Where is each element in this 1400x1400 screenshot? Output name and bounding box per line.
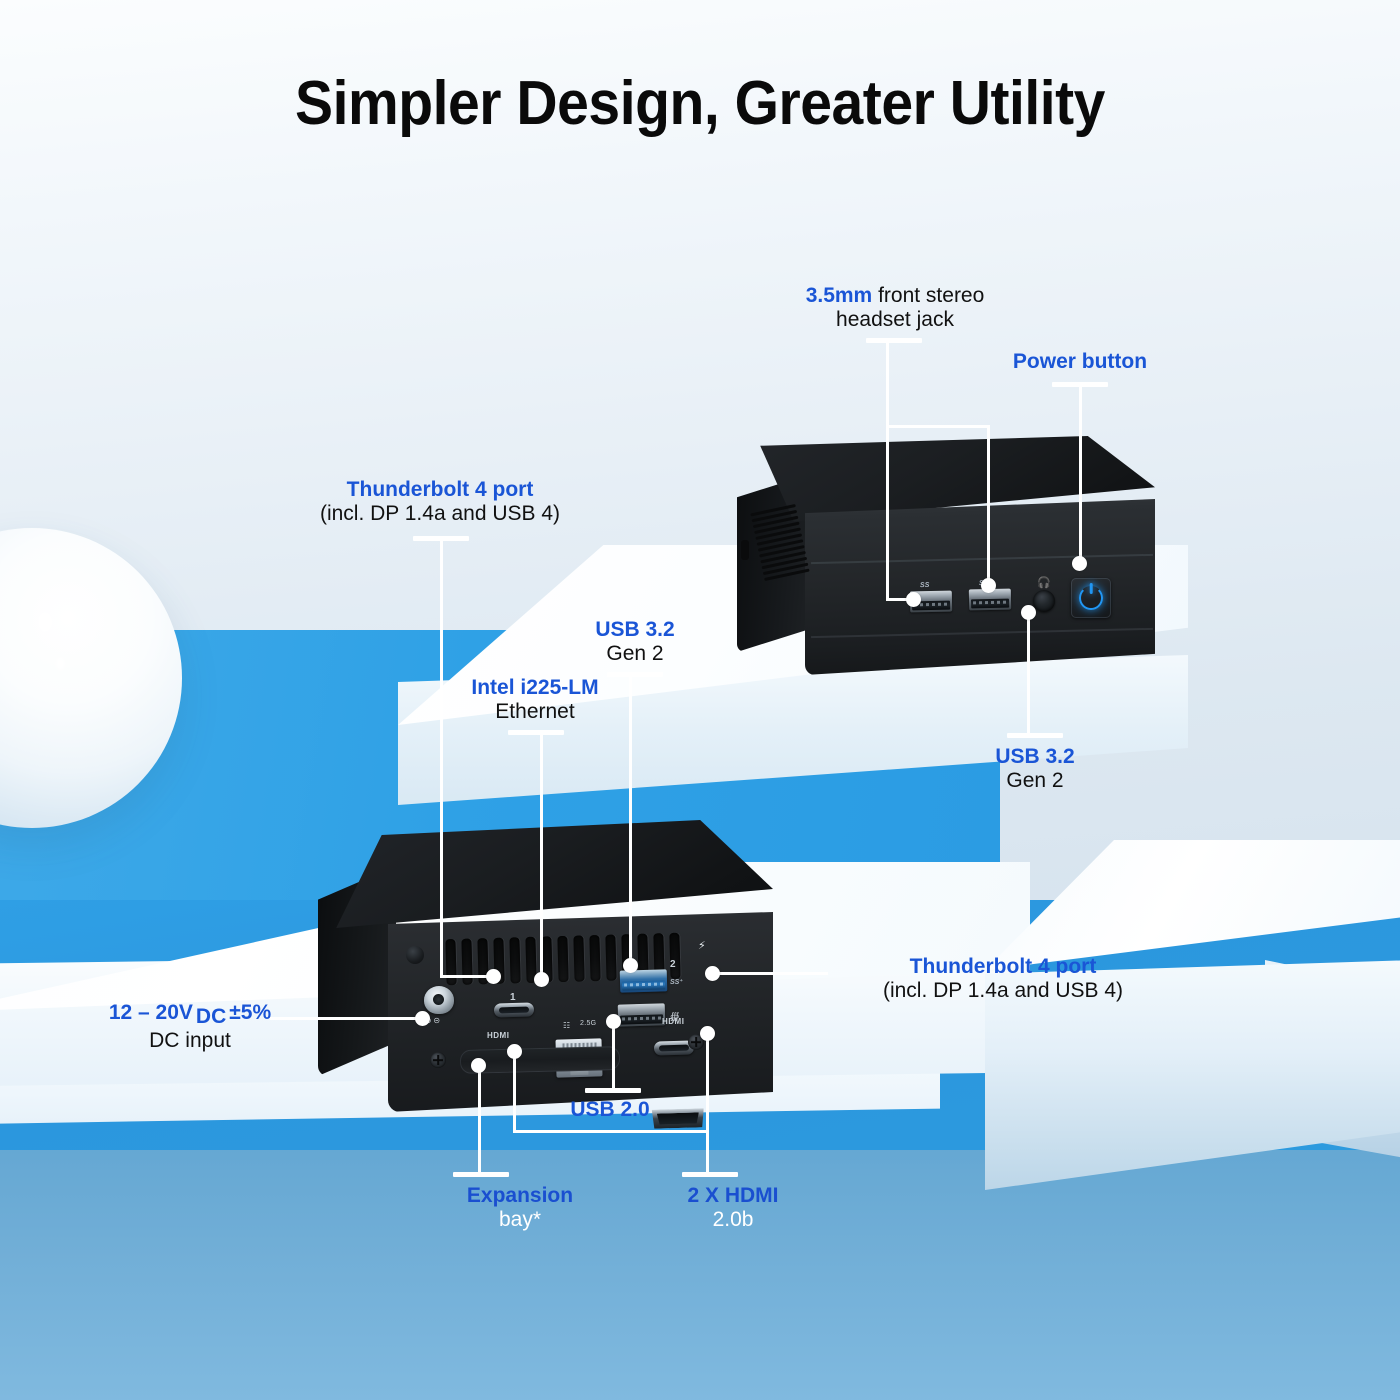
callout-dc-input-line2: DC input: [60, 1029, 320, 1053]
lead-usb32-front: [1027, 612, 1030, 734]
dot-headset-usb-right: [981, 578, 996, 593]
callout-headset-jack-secondary: front stereo: [872, 284, 984, 307]
lead-hdmi-bracket: [513, 1130, 709, 1133]
callout-thunderbolt-right-line2: (incl. DP 1.4a and USB 4): [833, 979, 1173, 1003]
callout-expansion-bay-primary: Expansion: [405, 1184, 635, 1208]
lead-headset-v1: [886, 338, 889, 427]
rear-dc-jack[interactable]: [424, 986, 454, 1014]
callout-usb32-front-line2: Gen 2: [930, 769, 1140, 793]
lan-icon: ☷: [563, 1021, 570, 1030]
dot-power-button: [1072, 556, 1087, 571]
callout-usb32-rear: USB 3.2 Gen 2: [530, 618, 740, 666]
dot-thunderbolt-1: [486, 969, 501, 984]
rear-usb32-port[interactable]: [620, 969, 668, 992]
product-diagram-canvas: Simpler Design, Greater Utility SS SS 🎧: [0, 0, 1400, 1400]
kensington-slot: [741, 540, 749, 560]
callout-dc-input-primary-a: 12 – 20V: [109, 1001, 193, 1024]
callout-usb32-front-primary: USB 3.2: [930, 745, 1140, 769]
lead-hdmi-right-v: [706, 1032, 709, 1132]
callout-dc-input-subscript: DC: [193, 1005, 229, 1028]
dot-hdmi-right: [700, 1026, 715, 1041]
lead-power-button: [1079, 382, 1082, 563]
lead-headset-v2: [987, 425, 990, 585]
callout-hdmi: 2 X HDMI 2.0b: [613, 1184, 853, 1232]
callout-power-button: Power button: [975, 350, 1185, 374]
callout-usb32-rear-primary: USB 3.2: [530, 618, 740, 642]
dot-rj45: [534, 972, 549, 987]
lead-dc-input: [270, 1017, 422, 1020]
callout-power-button-primary: Power button: [975, 350, 1185, 374]
tick-hdmi: [682, 1172, 738, 1177]
dot-expansion-bay: [471, 1058, 486, 1073]
rear-usb20-port[interactable]: [618, 1003, 666, 1026]
lead-thunderbolt-right: [718, 972, 828, 975]
callout-thunderbolt-left-primary: Thunderbolt 4 port: [280, 478, 600, 502]
callout-intel-ethernet-primary: Intel i225-LM: [420, 676, 650, 700]
dot-headset-usb-left: [906, 592, 921, 607]
dot-hdmi-left: [507, 1044, 522, 1059]
callout-expansion-bay: Expansion bay*: [405, 1184, 635, 1232]
callout-headset-jack-line2: headset jack: [790, 308, 1000, 332]
rear-audio-hole: [406, 946, 424, 964]
lead-intel-ethernet: [540, 730, 543, 978]
callout-usb20: USB 2.0: [505, 1098, 715, 1122]
thunderbolt-2-number: 2: [670, 959, 676, 970]
page-title: Simpler Design, Greater Utility: [56, 68, 1344, 139]
hdmi-right-marking: HDMI: [662, 1017, 684, 1026]
lead-usb20: [612, 1020, 615, 1090]
callout-headset-jack-primary: 3.5mm: [806, 284, 873, 307]
usb-ss-marking-left: SS: [920, 582, 929, 589]
thunderbolt-1-number: 1: [510, 992, 516, 1003]
rear-thunderbolt-1[interactable]: [494, 1002, 534, 1017]
hdmi-left-marking: HDMI: [487, 1031, 509, 1040]
dot-usb20: [606, 1014, 621, 1029]
tick-usb32-front: [1007, 733, 1063, 738]
lead-hdmi-left-v: [513, 1052, 516, 1132]
dot-usb32-rear: [623, 958, 638, 973]
thunderbolt-bolt-icon-2: ⚡: [698, 941, 706, 952]
front-power-button[interactable]: [1071, 578, 1111, 618]
callout-intel-ethernet-line2: Ethernet: [420, 700, 650, 724]
callout-usb20-primary: USB 2.0: [505, 1098, 715, 1122]
callout-thunderbolt-right-primary: Thunderbolt 4 port: [833, 955, 1173, 979]
callout-usb32-front: USB 3.2 Gen 2: [930, 745, 1140, 793]
dot-dc-jack: [415, 1011, 430, 1026]
platform-right: [985, 840, 1400, 1200]
lead-hdmi-stem: [706, 1130, 709, 1174]
callout-dc-input: 12 – 20VDC±5% DC input: [60, 1001, 320, 1053]
usb-ss10-marking: SS⁺: [670, 978, 683, 986]
dot-thunderbolt-2: [705, 966, 720, 981]
mini-pc-front-unit: SS SS 🎧: [727, 436, 1159, 686]
power-icon: [1079, 586, 1103, 610]
callout-expansion-bay-line2: bay*: [405, 1208, 635, 1232]
callout-hdmi-line2: 2.0b: [613, 1208, 853, 1232]
tick-expansion-bay: [453, 1172, 509, 1177]
front-headset-jack[interactable]: [1033, 590, 1055, 612]
callout-hdmi-primary: 2 X HDMI: [613, 1184, 853, 1208]
tick-intel-ethernet: [508, 730, 564, 735]
callout-intel-ethernet: Intel i225-LM Ethernet: [420, 676, 650, 724]
chassis-screw-left: [430, 1052, 446, 1068]
tick-headset-jack: [866, 338, 922, 343]
lead-thunderbolt-left-v: [440, 536, 443, 978]
callout-usb32-rear-line2: Gen 2: [530, 642, 740, 666]
headphone-icon: 🎧: [1037, 576, 1051, 589]
callout-headset-jack: 3.5mm front stereo headset jack: [790, 284, 1000, 332]
callout-thunderbolt-right: Thunderbolt 4 port (incl. DP 1.4a and US…: [833, 955, 1173, 1003]
callout-dc-input-primary-b: ±5%: [229, 1001, 271, 1024]
dot-front-headset-jack: [1021, 605, 1036, 620]
lan-speed-marking: 2.5G: [580, 1020, 596, 1027]
callout-thunderbolt-left-line2: (incl. DP 1.4a and USB 4): [280, 502, 600, 526]
lead-expansion-bay: [478, 1064, 481, 1174]
lead-headset-h: [886, 425, 990, 428]
callout-thunderbolt-left: Thunderbolt 4 port (incl. DP 1.4a and US…: [280, 478, 600, 526]
lead-headset-v3: [886, 425, 889, 601]
